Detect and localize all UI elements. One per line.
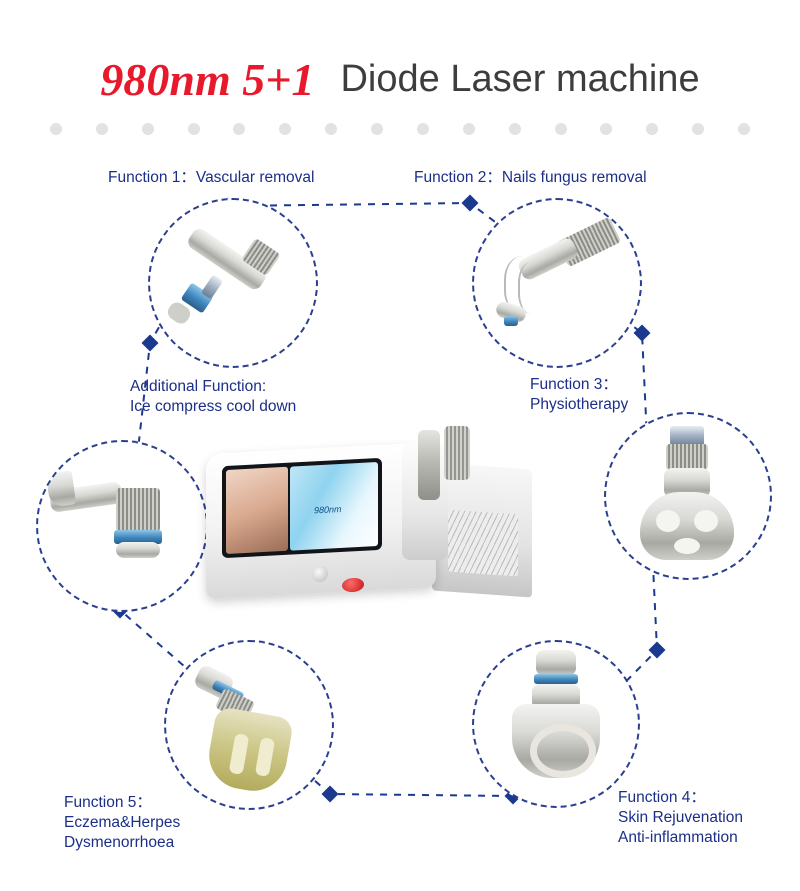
- decorative-dot: [188, 123, 200, 135]
- function-3-label-line2: Physiotherapy: [530, 395, 628, 415]
- decorative-dot: [325, 123, 337, 135]
- machine-screen: 980nm: [222, 458, 382, 558]
- function-5-label: Function 5： Eczema&Herpes Dysmenorrhoea: [64, 793, 180, 853]
- additional-function-label: Additional Function: Ice compress cool d…: [130, 377, 296, 417]
- decorative-dot-row: [50, 123, 750, 139]
- additional-function-image: [36, 440, 208, 612]
- function-3-label: Function 3： Physiotherapy: [530, 375, 628, 415]
- decorative-dot: [417, 123, 429, 135]
- function-2-image: [472, 198, 642, 368]
- laser-machine-illustration: 980nm: [196, 420, 556, 620]
- decorative-dot: [233, 123, 245, 135]
- handpiece-in-holster: [418, 430, 440, 500]
- function-2-label: Function 2：Nails fungus removal: [414, 168, 647, 188]
- function-1-image: [148, 198, 318, 368]
- function-5-label-line3: Dysmenorrhoea: [64, 833, 180, 853]
- function-5-label-line2: Eczema&Herpes: [64, 813, 180, 833]
- function-3-label-line1: Function 3：: [530, 375, 628, 395]
- decorative-dot: [279, 123, 291, 135]
- function-4-label: Function 4： Skin Rejuvenation Anti-infla…: [618, 788, 743, 848]
- function-4-label-line3: Anti-inflammation: [618, 828, 743, 848]
- decorative-dot: [509, 123, 521, 135]
- function-5-label-line1: Function 5：: [64, 793, 180, 813]
- decorative-dot: [142, 123, 154, 135]
- additional-function-label-line1: Additional Function:: [130, 377, 296, 397]
- decorative-dot: [555, 123, 567, 135]
- screen-wavelength-text: 980nm: [314, 504, 342, 515]
- handpiece-in-holster-2: [444, 426, 470, 480]
- title-main: 980nm 5+1: [100, 53, 314, 106]
- function-4-image: [472, 640, 640, 808]
- additional-function-label-line2: Ice compress cool down: [130, 397, 296, 417]
- function-4-label-line2: Skin Rejuvenation: [618, 808, 743, 828]
- decorative-dot: [463, 123, 475, 135]
- decorative-dot: [96, 123, 108, 135]
- machine-vent: [448, 510, 518, 577]
- decorative-dot: [600, 123, 612, 135]
- decorative-dot: [738, 123, 750, 135]
- page-title: 980nm 5+1 Diode Laser machine: [0, 48, 800, 110]
- function-5-image: [164, 640, 334, 810]
- decorative-dot: [646, 123, 658, 135]
- function-4-label-line1: Function 4：: [618, 788, 743, 808]
- decorative-dot: [50, 123, 62, 135]
- screen-model-photo: [226, 467, 288, 554]
- decorative-dot: [371, 123, 383, 135]
- product-infographic: 980nm 5+1 Diode Laser machine Function 1…: [0, 0, 800, 891]
- title-sub: Diode Laser machine: [340, 58, 699, 101]
- decorative-dot: [692, 123, 704, 135]
- function-1-label: Function 1：Vascular removal: [108, 168, 314, 188]
- function-3-image: [604, 412, 772, 580]
